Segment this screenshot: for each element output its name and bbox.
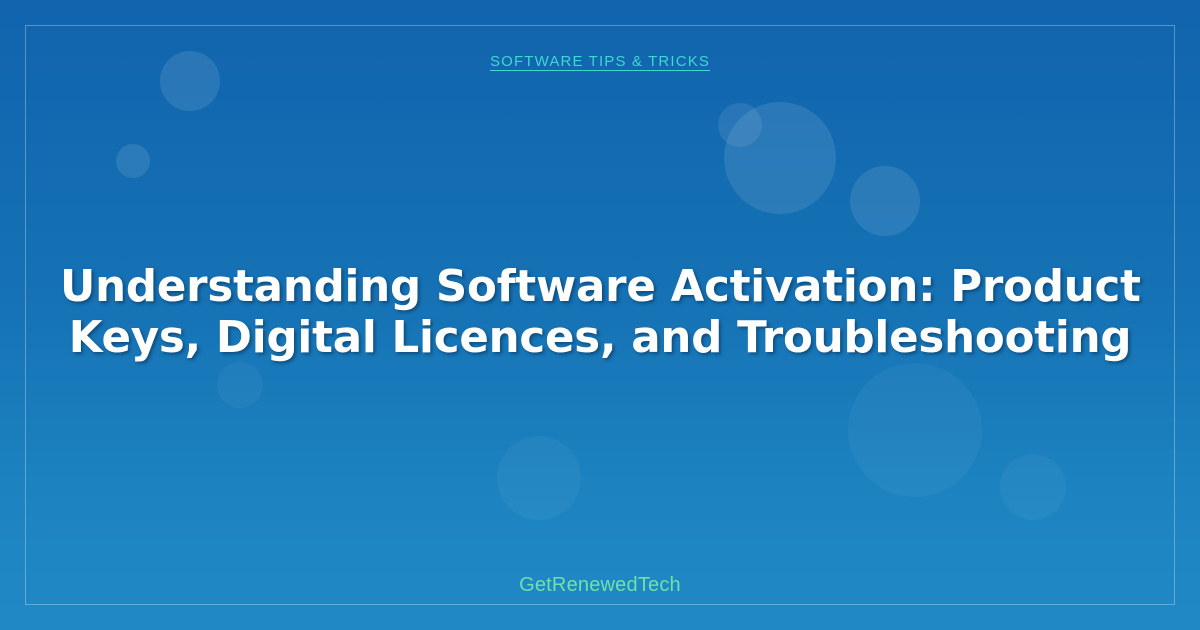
- card-content: SOFTWARE TIPS & TRICKS Understanding Sof…: [0, 0, 1200, 630]
- page-title: Understanding Software Activation: Produ…: [60, 262, 1140, 364]
- site-brand-name[interactable]: GetRenewedTech: [0, 574, 1200, 597]
- title-line-1: Understanding Software Activation: Produ…: [60, 262, 1140, 313]
- social-share-card: SOFTWARE TIPS & TRICKS Understanding Sof…: [0, 0, 1200, 630]
- title-heading: Understanding Software Activation: Produ…: [60, 262, 1140, 364]
- category-kicker[interactable]: SOFTWARE TIPS & TRICKS: [0, 53, 1200, 70]
- title-line-2: Keys, Digital Licences, and Troubleshoot…: [60, 313, 1140, 364]
